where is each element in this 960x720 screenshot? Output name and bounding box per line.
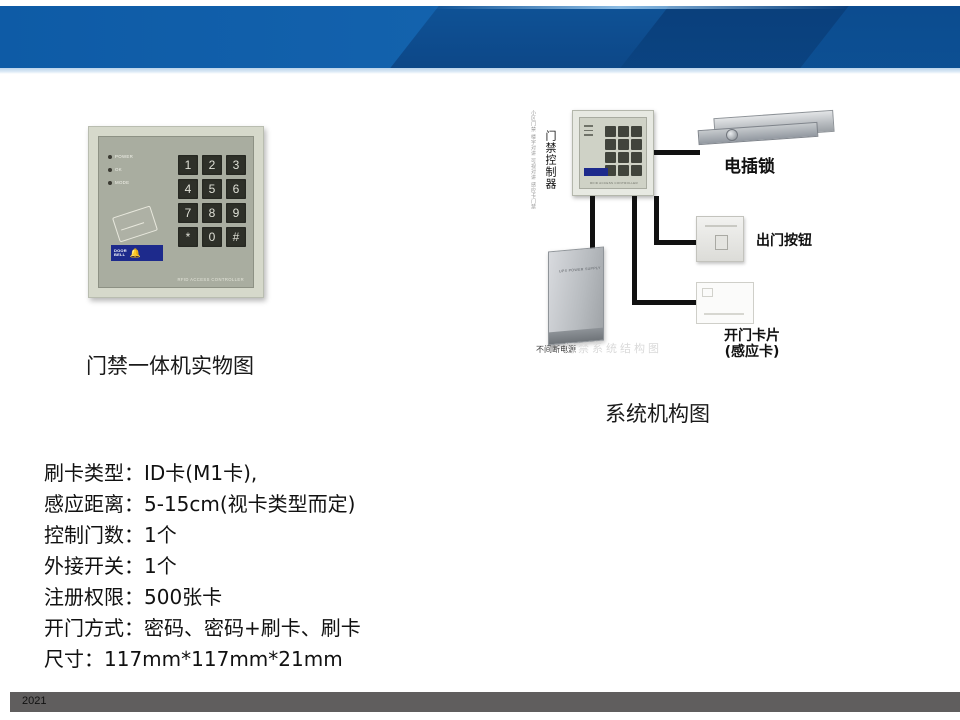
spec-value: 1个 xyxy=(144,551,177,582)
specification-list: 刷卡类型： ID卡(M1卡), 感应距离： 5-15cm(视卡类型而定) 控制门… xyxy=(44,458,361,675)
wire-controller-to-lock xyxy=(654,150,700,155)
spec-label: 刷卡类型： xyxy=(44,458,144,489)
controller-side-text: 小区门禁 楼宇对讲 可视对讲 感应卡门禁 xyxy=(530,110,537,210)
diagram-caption: 系统机构图 xyxy=(605,398,710,428)
spec-value: ID卡(M1卡), xyxy=(144,458,257,489)
spec-value: 5-15cm(视卡类型而定) xyxy=(144,489,355,520)
exit-button-image xyxy=(696,216,744,262)
diagram-key xyxy=(605,152,616,163)
access-card-label-line1: 开门卡片 xyxy=(724,328,780,344)
spec-label: 感应距离： xyxy=(44,489,144,520)
access-controller-photo: POWER OK MODE DOOR BELL 🔔 1 2 3 4 5 xyxy=(88,126,264,298)
spec-label: 注册权限： xyxy=(44,582,144,613)
access-card-label-line2: (感应卡) xyxy=(724,344,780,360)
left-photo-caption: 门禁一体机实物图 xyxy=(86,350,254,380)
device-brand-text: RFID ACCESS CONTROLLER xyxy=(177,277,244,282)
led-ok: OK xyxy=(108,167,133,172)
bell-icon: 🔔 xyxy=(130,249,141,258)
led-ok-label: OK xyxy=(115,167,122,172)
spec-row: 控制门数： 1个 xyxy=(44,520,361,551)
keypad-key: 0 xyxy=(202,227,222,247)
diagram-led xyxy=(584,125,593,127)
footer-year: 2021 xyxy=(22,695,46,707)
diagram-led xyxy=(584,134,593,136)
diagram-led xyxy=(584,130,593,132)
keypad-key: # xyxy=(226,227,246,247)
keypad-key: 7 xyxy=(178,203,198,223)
spec-value: 500张卡 xyxy=(144,582,222,613)
spec-row: 尺寸： 117mm*117mm*21mm xyxy=(44,644,361,675)
keypad-key: 6 xyxy=(226,179,246,199)
spec-value: 密码、密码+刷卡、刷卡 xyxy=(144,613,361,644)
led-mode: MODE xyxy=(108,180,133,185)
electric-bolt-lock-image xyxy=(696,112,840,146)
diagram-controller-brand: RFID ACCESS CONTROLLER xyxy=(590,181,638,185)
doorbell-text: DOOR BELL xyxy=(114,249,127,258)
diagram-key xyxy=(618,165,629,176)
system-structure-diagram: 小区门禁 楼宇对讲 可视对讲 感应卡门禁 门禁控制器 xyxy=(528,104,846,354)
exit-button-switch-icon xyxy=(715,235,728,250)
spec-label: 尺寸： xyxy=(44,644,104,675)
spec-label: 开门方式： xyxy=(44,613,144,644)
footer-bar: 2021 xyxy=(10,692,960,712)
spec-label: 外接开关： xyxy=(44,551,144,582)
diagram-led-group xyxy=(584,125,593,139)
led-dot-icon xyxy=(108,168,112,172)
wire-card-horizontal xyxy=(632,300,698,305)
spec-value: 117mm*117mm*21mm xyxy=(104,644,343,675)
keypad-key: 4 xyxy=(178,179,198,199)
wire-exit-horizontal xyxy=(654,240,700,245)
diagram-key xyxy=(605,126,616,137)
led-dot-icon xyxy=(108,155,112,159)
wire-controller-to-card xyxy=(632,196,637,304)
spec-row: 注册权限： 500张卡 xyxy=(44,582,361,613)
card-swipe-area-icon xyxy=(112,205,158,242)
diagram-key xyxy=(618,139,629,150)
diagram-keypad xyxy=(605,126,642,176)
led-dot-icon xyxy=(108,181,112,185)
diagram-controller-face: RFID ACCESS CONTROLLER xyxy=(579,117,647,189)
keypad-key: 1 xyxy=(178,155,198,175)
device-faceplate: POWER OK MODE DOOR BELL 🔔 1 2 3 4 5 xyxy=(98,136,254,288)
diagram-key xyxy=(631,165,642,176)
spec-row: 外接开关： 1个 xyxy=(44,551,361,582)
diagram-key xyxy=(618,126,629,137)
access-card-image xyxy=(696,282,754,324)
banner-highlight-line xyxy=(429,6,851,9)
spec-row: 开门方式： 密码、密码+刷卡、刷卡 xyxy=(44,613,361,644)
electric-lock-label: 电插锁 xyxy=(724,152,775,177)
doorbell-badge: DOOR BELL 🔔 xyxy=(111,245,163,261)
diagram-key xyxy=(618,152,629,163)
doorbell-label-line2: BELL xyxy=(114,253,127,257)
diagram-controller-unit: RFID ACCESS CONTROLLER xyxy=(572,110,654,196)
controller-label: 门禁控制器 xyxy=(542,130,558,190)
spec-row: 刷卡类型： ID卡(M1卡), xyxy=(44,458,361,489)
diagram-key xyxy=(631,126,642,137)
keypad-key: 2 xyxy=(202,155,222,175)
spec-value: 1个 xyxy=(144,520,177,551)
keypad-key: * xyxy=(178,227,198,247)
spec-label: 控制门数： xyxy=(44,520,144,551)
led-power-label: POWER xyxy=(115,154,133,159)
wire-controller-to-ups xyxy=(590,196,595,252)
led-mode-label: MODE xyxy=(115,180,129,185)
keypad-key: 3 xyxy=(226,155,246,175)
diagram-key xyxy=(631,152,642,163)
keypad-key: 5 xyxy=(202,179,222,199)
diagram-key xyxy=(631,139,642,150)
diagram-key xyxy=(605,139,616,150)
lock-bolt-icon xyxy=(726,129,738,141)
keypad-key: 8 xyxy=(202,203,222,223)
keypad: 1 2 3 4 5 6 7 8 9 * 0 # xyxy=(178,155,246,247)
ups-power-supply-image: UPS POWER SUPPLY xyxy=(548,247,604,346)
exit-button-label: 出门按钮 xyxy=(756,230,812,250)
diagram-watermark: 门禁系统结构图 xyxy=(564,340,662,356)
spec-row: 感应距离： 5-15cm(视卡类型而定) xyxy=(44,489,361,520)
wire-controller-to-exit xyxy=(654,196,659,244)
keypad-key: 9 xyxy=(226,203,246,223)
access-card-label: 开门卡片 (感应卡) xyxy=(724,328,780,360)
led-power: POWER xyxy=(108,154,133,159)
diagram-doorbell-badge xyxy=(584,168,608,176)
ups-body-text: UPS POWER SUPPLY xyxy=(559,266,601,275)
header-banner xyxy=(0,6,960,68)
banner-underline xyxy=(0,68,960,74)
led-indicator-group: POWER OK MODE xyxy=(108,154,133,193)
